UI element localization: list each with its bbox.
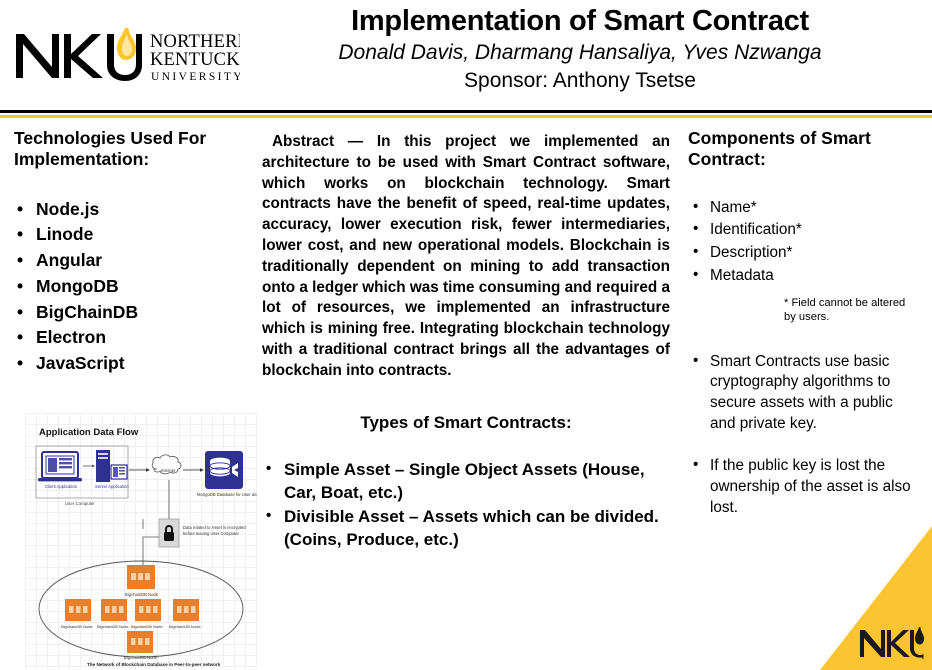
bigchaindb-node [101,599,127,621]
header-divider-gold [0,115,932,118]
left-column: Technologies Used For Implementation: No… [14,122,246,377]
list-item: Electron [14,325,246,351]
svg-text:BigchainDB Node: BigchainDB Node [131,624,163,629]
svg-text:BigchainDB Node: BigchainDB Node [97,624,129,629]
nku-logo: NORTHERN KENTUCKY UNIVERSITY [12,22,240,86]
list-item: Angular [14,248,246,274]
list-item: Metadata [688,265,920,288]
list-item: Linode [14,222,246,248]
svg-text:BigchainDB Node: BigchainDB Node [125,592,159,597]
svg-text:Client Application: Client Application [45,484,78,489]
poster-body: Technologies Used For Implementation: No… [0,122,932,670]
notes-list: Smart Contracts use basic cryptography a… [688,352,920,518]
technologies-heading: Technologies Used For Implementation: [14,128,246,171]
technologies-list: Node.js Linode Angular MongoDB BigChainD… [14,197,246,377]
bigchaindb-node [135,599,161,621]
list-item: Name* [688,197,920,220]
application-data-flow-figure: Application Data Flow Client Application [25,413,257,669]
list-item: Simple Asset – Single Object Assets (Hou… [262,459,670,505]
types-heading: Types of Smart Contracts: [262,413,670,433]
svg-text:BigchainDB Node: BigchainDB Node [169,624,201,629]
components-list: Name* Identification* Description* Metad… [688,197,920,288]
list-item: Description* [688,242,920,265]
list-item: Identification* [688,219,920,242]
header-divider-black [0,110,932,113]
components-heading: Components of Smart Contract: [688,128,920,171]
figure-title: Application Data Flow [39,427,139,438]
svg-text:The Network of Blockchain Data: The Network of Blockchain Database in Pe… [87,662,221,667]
nku-logo-svg: NORTHERN KENTUCKY UNIVERSITY [12,22,240,86]
right-column: Components of Smart Contract: Name* Iden… [688,122,920,540]
svg-text:Internet: Internet [161,468,176,473]
svg-text:User Computer: User Computer [65,501,95,506]
lock-icon [159,519,179,547]
logo-line-northern: NORTHERN [150,32,240,52]
list-item: If the public key is lost the ownership … [688,456,920,518]
page-title: Implementation of Smart Contract [250,4,910,38]
abstract-paragraph: Abstract — In this project we implemente… [262,132,670,382]
types-list: Simple Asset – Single Object Assets (Hou… [262,459,670,553]
sponsor-line: Sponsor: Anthony Tsetse [250,68,910,94]
list-item: MongoDB [14,274,246,300]
list-item: Node.js [14,197,246,223]
middle-column: Abstract — In this project we implemente… [262,122,670,554]
list-item: Divisible Asset – Assets which can be di… [262,506,670,552]
bigchaindb-node [127,631,153,653]
client-application-icon [38,452,82,481]
svg-text:Data related to Asset is encry: Data related to Asset is encrypted [183,525,246,530]
authors-line: Donald Davis, Dharmang Hansaliya, Yves N… [250,40,910,66]
bigchaindb-node [173,599,199,621]
svg-text:BigchainDB Node: BigchainDB Node [61,624,93,629]
components-footnote: * Field cannot be altered by users. [688,296,920,324]
svg-text:Server Application: Server Application [95,484,129,489]
bigchaindb-node [127,565,155,589]
server-application-icon [96,450,127,482]
logo-line-university: UNIVERSITY [151,71,240,83]
svg-text:BigchainDB Node: BigchainDB Node [124,655,158,660]
poster-header: NORTHERN KENTUCKY UNIVERSITY Implementat… [0,0,932,108]
list-item: BigChainDB [14,300,246,326]
title-block: Implementation of Smart Contract Donald … [250,4,910,95]
internet-cloud-icon: Internet [152,455,181,474]
figure-svg: Application Data Flow Client Application [25,413,257,669]
svg-text:before leaving User Computer: before leaving User Computer [183,531,239,536]
bigchaindb-node [65,599,91,621]
list-item: Smart Contracts use basic cryptography a… [688,352,920,435]
svg-text:MongoDB Database for User data: MongoDB Database for User data storage [197,492,257,497]
list-item: JavaScript [14,351,246,377]
mongodb-database-icon [205,451,243,489]
logo-line-kentucky: KENTUCKY [150,50,240,70]
